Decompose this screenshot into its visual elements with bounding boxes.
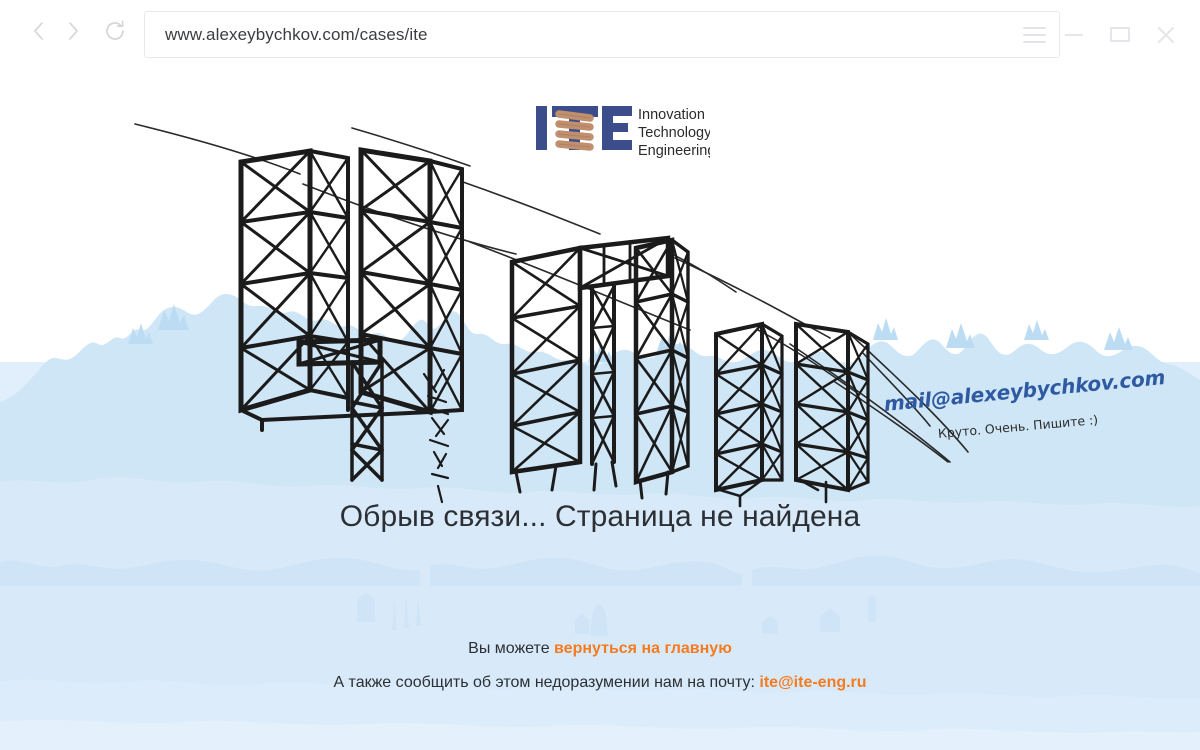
address-bar[interactable]: www.alexeybychkov.com/cases/ite (144, 11, 1060, 58)
minimize-button[interactable] (1054, 15, 1094, 55)
page-viewport: Innovation Technology Engineering mail@a… (0, 62, 1200, 750)
close-icon (1156, 25, 1176, 45)
navigation-buttons (22, 14, 132, 48)
footer-line-two: А также сообщить об этом недоразумении н… (0, 674, 1200, 692)
maximize-icon (1110, 27, 1130, 42)
footer-line-one: Вы можете вернуться на главную (0, 640, 1200, 658)
logo-letter-e-top (602, 106, 632, 116)
reload-icon (103, 19, 127, 43)
browser-chrome: www.alexeybychkov.com/cases/ite (0, 0, 1200, 62)
forward-button[interactable] (56, 14, 90, 48)
chevron-left-icon (31, 20, 47, 42)
logo-letter-e-bottom (602, 140, 632, 150)
window-controls (1054, 11, 1186, 58)
footer-text-block: Вы можете вернуться на главную А также с… (0, 640, 1200, 692)
maximize-button[interactable] (1100, 15, 1140, 55)
logo-letter-e-mid (602, 123, 628, 132)
hamburger-menu-icon[interactable] (1011, 12, 1057, 58)
chevron-right-icon (65, 20, 81, 42)
url-input[interactable]: www.alexeybychkov.com/cases/ite (165, 25, 1011, 45)
error-page-illustration: Innovation Technology Engineering mail@a… (0, 62, 1200, 750)
footer-line-two-prefix: А также сообщить об этом недоразумении н… (333, 674, 759, 691)
footer-line-one-prefix: Вы можете (468, 640, 554, 657)
logo-tagline-line-3: Engineering (638, 143, 710, 159)
reload-button[interactable] (98, 14, 132, 48)
logo-tagline-line-2: Technology (638, 125, 710, 141)
logo-letter-i (536, 106, 547, 150)
error-headline: Обрыв связи... Страница не найдена (0, 500, 1200, 534)
minimize-icon (1065, 34, 1083, 36)
support-email-link[interactable]: ite@ite-eng.ru (759, 674, 866, 691)
home-link[interactable]: вернуться на главную (554, 640, 732, 657)
close-button[interactable] (1146, 15, 1186, 55)
back-button[interactable] (22, 14, 56, 48)
logo-tagline-line-1: Innovation (638, 107, 705, 123)
ite-logo: Innovation Technology Engineering (534, 102, 710, 162)
